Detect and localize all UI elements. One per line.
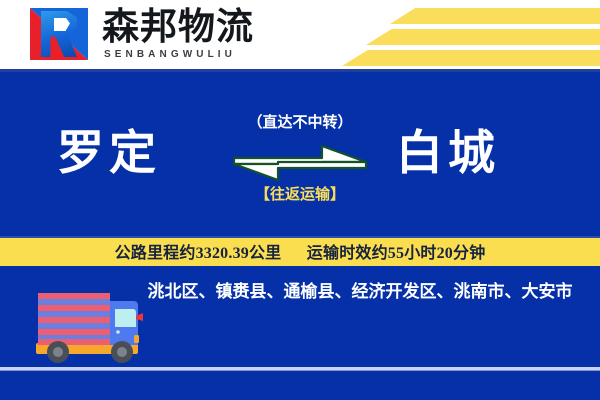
brand-name-cn: 森邦物流 [102,8,254,48]
senbang-r-logo-icon [28,6,90,62]
header-stripe-2 [366,29,600,45]
bottom-divider-shadow [0,370,600,371]
header-stripes-decoration [330,0,600,72]
origin-city: 罗定 [57,126,161,182]
logistics-route-banner: 森邦物流 SENBANGWULIU 罗定 白城 （直达不中转） 【往返运输】 [0,0,600,400]
banner-header: 森邦物流 SENBANGWULIU [0,0,600,72]
route-info-text: 公路里程约3320.39公里 运输时效约55小时20分钟 [115,239,486,263]
coverage-areas-text: 洮北区、镇赉县、通榆县、经济开发区、洮南市、大安市 [130,280,590,304]
brand-text: 森邦物流 SENBANGWULIU [102,8,254,61]
duration-text: 运输时效约55小时20分钟 [307,245,486,262]
distance-text: 公路里程约3320.39公里 [115,245,282,262]
bidirectional-arrow-icon [226,138,374,182]
header-stripe-1 [390,8,600,24]
header-stripe-3 [342,50,600,66]
route-arrow-block: （直达不中转） 【往返运输】 [226,113,374,205]
info-bar-top-edge [0,236,600,238]
brand-name-en: SENBANGWULIU [102,48,254,61]
roundtrip-label: 【往返运输】 [226,185,374,205]
brand-logo[interactable]: 森邦物流 SENBANGWULIU [28,6,254,62]
route-info-bar: 公路里程约3320.39公里 运输时效约55小时20分钟 [0,236,600,266]
direct-service-label: （直达不中转） [226,113,374,133]
destination-city: 白城 [396,126,500,182]
